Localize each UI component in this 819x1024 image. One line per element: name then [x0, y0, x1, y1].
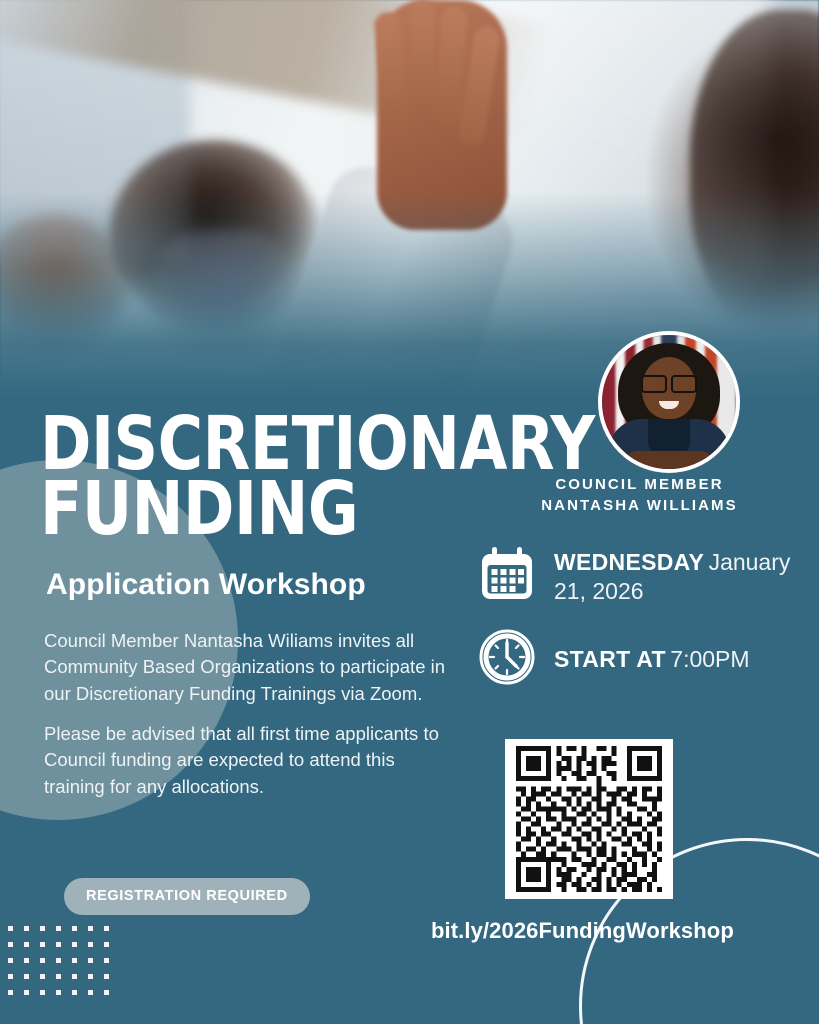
status-badge: REGISTRATION REQUIRED — [64, 878, 310, 915]
page-title: DISCRETIONARY FUNDING — [40, 412, 440, 542]
avatar — [598, 331, 740, 473]
event-time-text: START AT 7:00PM — [554, 645, 750, 673]
official-name-block: COUNCIL MEMBER NANTASHA WILLIAMS — [460, 474, 819, 517]
registration-url[interactable]: bit.ly/2026FundingWorkshop — [431, 918, 734, 944]
official-name: NANTASHA WILLIAMS — [460, 495, 819, 516]
glasses-icon — [641, 375, 697, 389]
body-paragraph-2: Please be advised that all first time ap… — [44, 721, 448, 800]
left-content-column: DISCRETIONARY FUNDING Application Worksh… — [40, 412, 470, 800]
decorative-dot-grid — [8, 926, 120, 1006]
body-copy: Council Member Nantasha Wiliams invites … — [44, 628, 448, 800]
event-time-value: 7:00PM — [670, 646, 749, 672]
flyer-canvas: DISCRETIONARY FUNDING Application Worksh… — [0, 0, 819, 1024]
portrait-folded-arms — [626, 451, 712, 473]
event-date-row: WEDNESDAY January 21, 2026 — [478, 545, 819, 608]
subheadline: Application Workshop — [46, 568, 470, 602]
body-paragraph-1: Council Member Nantasha Wiliams invites … — [44, 628, 448, 707]
qr-code[interactable] — [505, 739, 673, 899]
event-time-label: START AT — [554, 646, 666, 672]
clock-icon — [478, 628, 536, 691]
event-day-label: WEDNESDAY — [554, 549, 704, 575]
event-details: WEDNESDAY January 21, 2026 — [478, 545, 819, 711]
event-time-row: START AT 7:00PM — [478, 628, 819, 691]
calendar-icon — [478, 545, 536, 608]
event-date-text: WEDNESDAY January 21, 2026 — [554, 548, 819, 604]
official-title: COUNCIL MEMBER — [460, 474, 819, 495]
